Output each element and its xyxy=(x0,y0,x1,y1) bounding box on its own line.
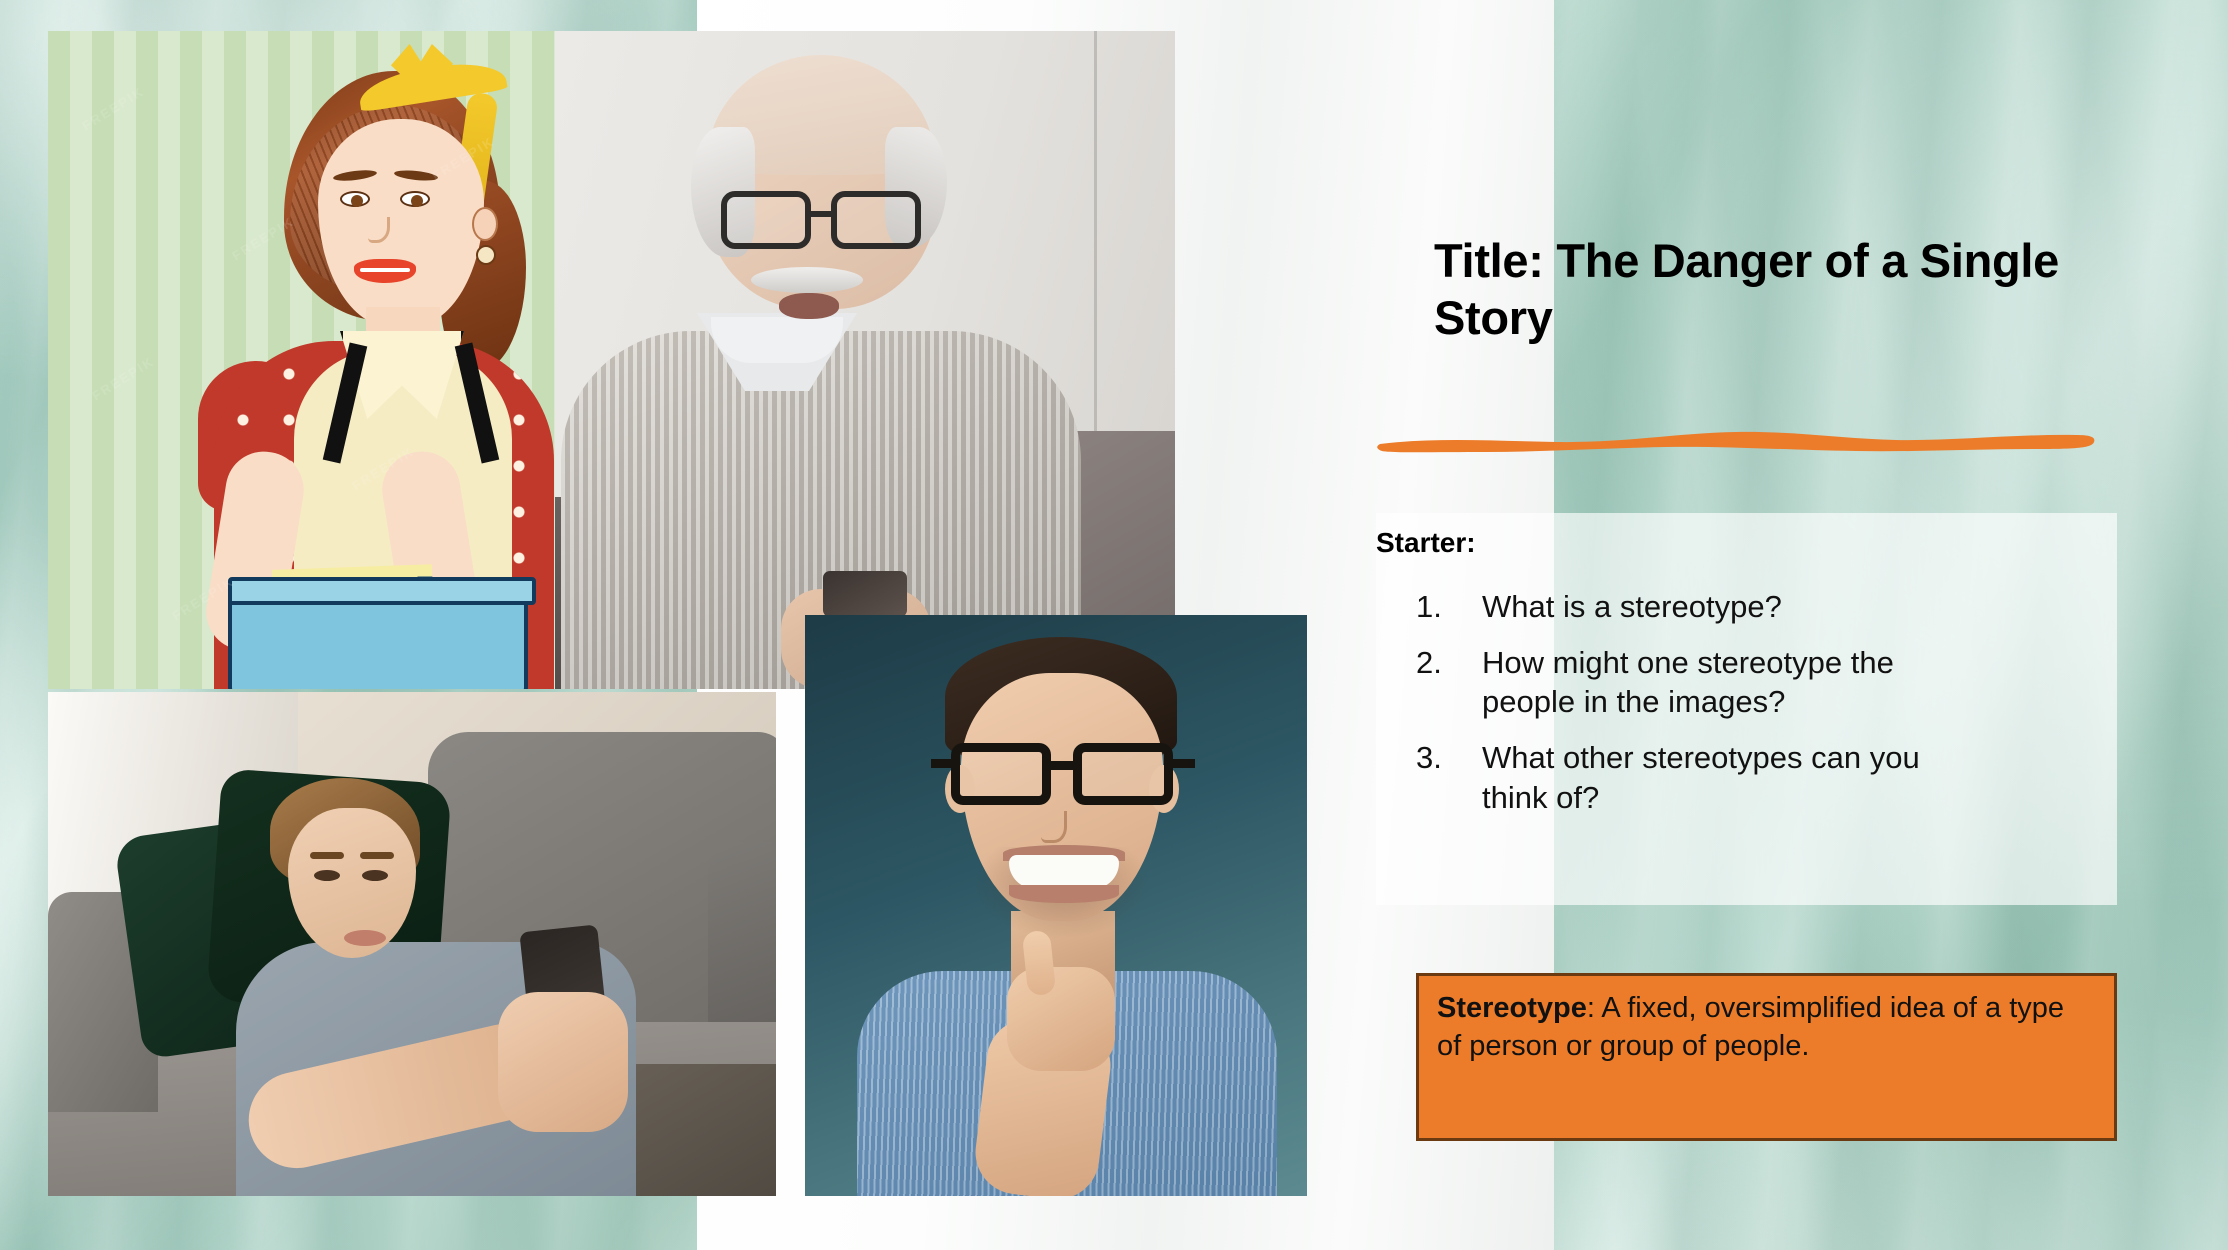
stereotype-definition-box: Stereotype: A fixed, oversimplified idea… xyxy=(1416,973,2117,1141)
lens-left xyxy=(951,743,1051,805)
starter-question-list: 1. What is a stereotype? 2. How might on… xyxy=(1416,587,2116,833)
list-item-number: 1. xyxy=(1416,587,1482,627)
glassman-hand xyxy=(1007,967,1115,1071)
definition-term: Stereotype xyxy=(1437,992,1587,1024)
starter-label: Starter: xyxy=(1376,527,1476,559)
lens-right xyxy=(1073,743,1173,805)
list-item-number: 2. xyxy=(1416,643,1482,722)
watermark-text: FREEPIK xyxy=(89,354,157,404)
list-item-text: What other stereotypes can you think of? xyxy=(1482,738,1982,817)
page-title: Title: The Danger of a Single Story xyxy=(1434,232,2114,347)
definition-separator: : xyxy=(1587,992,1602,1024)
glassman-teeth xyxy=(1009,855,1119,889)
list-item-number: 3. xyxy=(1416,738,1482,817)
lens-left xyxy=(721,191,811,249)
list-item-text: How might one stereotype the people in t… xyxy=(1482,643,1982,722)
watermark-text: FREEPIK xyxy=(229,214,297,264)
eyeglasses-icon xyxy=(947,743,1179,809)
glassman-nose xyxy=(1041,811,1067,843)
teen-mouth xyxy=(344,930,386,946)
orange-brush-underline xyxy=(1376,425,2098,457)
teen-brow-right xyxy=(360,852,394,859)
man-with-glasses-photo xyxy=(805,615,1307,1196)
teen-eye-left xyxy=(314,870,340,881)
housewife-illustration: FREEPIK FREEPIK FREEPIK FREEPIK FREEPIK … xyxy=(48,31,555,689)
glasses-bridge xyxy=(811,211,833,217)
teen-eye-right xyxy=(362,870,388,881)
definition-text: Stereotype: A fixed, oversimplified idea… xyxy=(1437,990,2096,1065)
elderly-man-photo xyxy=(555,31,1175,689)
image-collage: FREEPIK FREEPIK FREEPIK FREEPIK FREEPIK … xyxy=(48,31,1307,1196)
eyeglasses-icon xyxy=(721,191,935,253)
moustache xyxy=(751,267,863,293)
list-item-text: What is a stereotype? xyxy=(1482,587,1782,627)
slide-canvas: FREEPIK FREEPIK FREEPIK FREEPIK FREEPIK … xyxy=(0,0,2228,1250)
list-item: 2. How might one stereotype the people i… xyxy=(1416,643,2116,722)
watermark-text: FREEPIK xyxy=(429,134,497,184)
text-content-area: Title: The Danger of a Single Story Star… xyxy=(1434,0,2134,1250)
lens-right xyxy=(831,191,921,249)
list-item: 1. What is a stereotype? xyxy=(1416,587,2116,627)
elderly-mouth xyxy=(779,293,839,319)
teen-hand xyxy=(498,992,628,1132)
shirt-collar xyxy=(711,317,843,363)
watermark-text: FREEPIK xyxy=(79,84,147,134)
glassman-lower-lip xyxy=(1009,885,1119,903)
freepik-watermark: FREEPIK FREEPIK FREEPIK FREEPIK FREEPIK … xyxy=(48,31,555,689)
teenager-photo xyxy=(48,692,776,1196)
teen-brow-left xyxy=(310,852,344,859)
watermark-text: FREEPIK xyxy=(169,574,237,624)
starter-panel: Starter: 1. What is a stereotype? 2. How… xyxy=(1376,513,2117,905)
list-item: 3. What other stereotypes can you think … xyxy=(1416,738,2116,817)
smartphone-icon xyxy=(823,571,907,617)
watermark-text: FREEPIK xyxy=(349,444,417,494)
glasses-bridge xyxy=(1049,761,1077,770)
